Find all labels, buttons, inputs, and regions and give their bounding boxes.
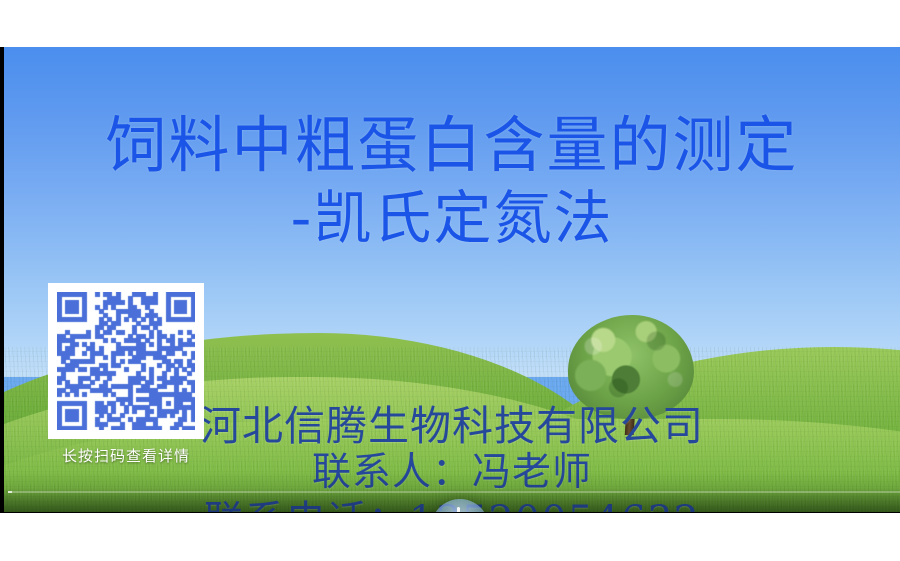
- tree-icon: [560, 315, 700, 445]
- qr-code-canvas[interactable]: [57, 292, 195, 430]
- tree-canopy: [568, 315, 694, 419]
- video-progress-bar[interactable]: [8, 491, 900, 493]
- inline-video-player[interactable]: 饲料中粗蛋白含量的测定 -凯氏定氮法 河北信腾生物科技有限公司 联系人：冯老师 …: [0, 47, 900, 513]
- video-stage[interactable]: 饲料中粗蛋白含量的测定 -凯氏定氮法 河北信腾生物科技有限公司 联系人：冯老师 …: [4, 47, 900, 512]
- qr-code-caption: 长按扫码查看详情: [36, 445, 216, 466]
- video-progress-fill: [8, 491, 12, 493]
- qr-code[interactable]: [48, 283, 204, 439]
